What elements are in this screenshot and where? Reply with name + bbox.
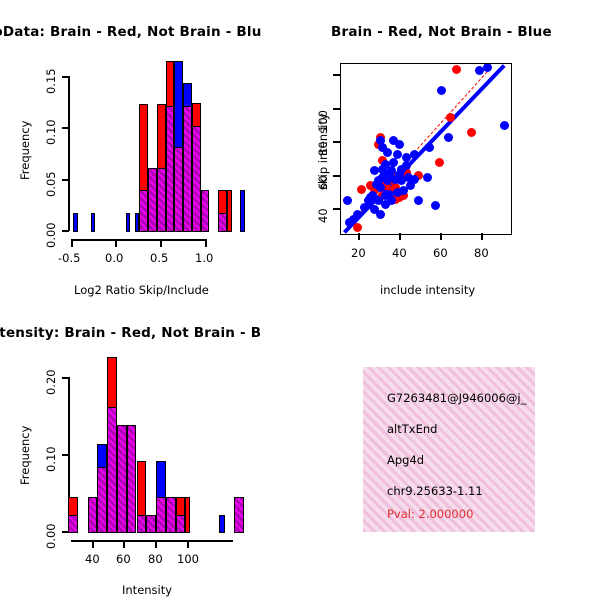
x-tick-label-0-gene: 40	[85, 552, 100, 566]
hist-bar-overlap	[201, 190, 210, 232]
x-axis-label-intensity: Intensity	[122, 583, 172, 597]
y-tick-3-scatter	[333, 108, 340, 110]
y-tick-label-0-scatter: 40	[316, 208, 330, 223]
y-tick-label-2-gene: 0.20	[44, 369, 58, 395]
page-title-scatter: Brain - Red, Not Brain - Blue	[331, 24, 552, 40]
hist-bar-not-brain	[73, 213, 78, 232]
x-tick-label-3-scatter: 80	[474, 246, 489, 260]
x-tick-label-2-gene: 80	[148, 552, 163, 566]
hist-bar-overlap	[137, 515, 147, 533]
x-tick-0-scatter	[358, 233, 360, 240]
y-tick-0-ratio	[62, 230, 69, 232]
scatter-point-not-brain	[389, 158, 398, 167]
y-tick-label-0-ratio: 0.00	[44, 222, 58, 248]
hist-bar-not-brain	[126, 213, 131, 232]
info-line-pval: Pval: 2.000000	[387, 507, 473, 521]
y-axis-label-frequency-gene: Frequency	[18, 426, 32, 485]
x-tick-0-ratio	[71, 239, 73, 247]
x-tick-2-scatter	[440, 233, 442, 240]
y-tick-label-1-ratio: 0.05	[44, 171, 58, 197]
x-axis-label-ratio: Log2 Ratio Skip/Include	[74, 283, 209, 297]
y-tick-label-1-gene: 0.10	[44, 446, 58, 472]
title-clip-region-gene: ne Itensity: Brain - Red, Not Brain - B	[0, 325, 300, 347]
hist-bar-overlap	[183, 106, 192, 232]
x-tick-3-ratio	[205, 239, 207, 247]
y-tick-3-ratio	[62, 76, 69, 78]
scatter-point-brain	[435, 158, 444, 167]
scatter-point-not-brain	[431, 201, 440, 210]
y-tick-label-3-ratio: 0.15	[44, 68, 58, 94]
y-tick-0-scatter	[333, 208, 340, 210]
y-tick-2-gene	[62, 377, 69, 379]
x-tick-label-2-scatter: 60	[433, 246, 448, 260]
x-tick-1-ratio	[115, 239, 117, 247]
panel-intensity-scatter: Brain - Red, Not Brain - Blue skip inten…	[300, 0, 600, 305]
scatter-point-not-brain	[393, 188, 402, 197]
page-title-ratio: RatioData: Brain - Red, Not Brain - Blu	[0, 24, 262, 40]
page-title-gene-intensity: ne Itensity: Brain - Red, Not Brain - B	[0, 325, 261, 341]
x-tick-label-0-scatter: 20	[351, 246, 366, 260]
y-tick-1-gene	[62, 454, 69, 456]
hist-bar-overlap	[156, 497, 166, 533]
scatter-point-brain	[353, 223, 362, 232]
scatter-point-not-brain	[376, 210, 385, 219]
hist-bar-overlap	[192, 126, 201, 232]
hist-bar-overlap	[166, 106, 175, 232]
hist-bar-overlap	[139, 190, 148, 232]
hist-bar-overlap	[148, 168, 157, 232]
x-tick-3-gene	[187, 540, 189, 548]
hist-bar-overlap	[218, 213, 227, 232]
scatter-point-not-brain	[410, 150, 419, 159]
histogram-bars-gene	[69, 355, 249, 533]
scatter-point-not-brain	[500, 121, 509, 130]
hist-bar-overlap	[97, 467, 107, 533]
scatter-point-not-brain	[343, 196, 352, 205]
x-tick-label-1-ratio: 0.0	[105, 251, 123, 265]
y-tick-1-scatter	[333, 175, 340, 177]
scatter-point-brain	[467, 128, 476, 137]
y-tick-label-2-ratio: 0.10	[44, 119, 58, 145]
scatter-point-not-brain	[381, 200, 390, 209]
panel-gene-intensity-histogram: ne Itensity: Brain - Red, Not Brain - B …	[0, 305, 300, 600]
scatter-point-not-brain	[360, 203, 369, 212]
y-tick-label-3-scatter: 100	[316, 110, 330, 132]
x-tick-label-1-gene: 60	[116, 552, 131, 566]
info-line-gene-id: G7263481@J946006@j_	[387, 391, 526, 405]
x-tick-2-gene	[155, 540, 157, 548]
scatter-point-not-brain	[414, 196, 423, 205]
x-tick-3-scatter	[481, 233, 483, 240]
scatter-point-not-brain	[423, 173, 432, 182]
title-clip-region: RatioData: Brain - Red, Not Brain - Blu	[0, 24, 300, 46]
y-tick-1-ratio	[62, 179, 69, 181]
hist-bar-overlap	[107, 407, 117, 533]
hist-bar-overlap	[146, 515, 156, 533]
info-line-locus: chr9.25633-1.11	[387, 484, 483, 498]
scatter-point-not-brain	[372, 180, 381, 189]
scatter-point-not-brain	[437, 86, 446, 95]
x-tick-label-1-scatter: 40	[392, 246, 407, 260]
hist-bar-overlap	[127, 425, 137, 533]
x-axis-line-gene	[71, 540, 233, 542]
scatter-point-not-brain	[393, 150, 402, 159]
scatter-point-not-brain	[444, 133, 453, 142]
y-tick-label-1-scatter: 60	[316, 175, 330, 190]
hist-bar-not-brain	[91, 213, 96, 232]
scatter-plot-area	[340, 63, 512, 235]
scatter-point-not-brain	[366, 193, 375, 202]
hist-bar-overlap	[157, 168, 166, 232]
scatter-point-brain	[452, 65, 461, 74]
info-line-gene-symbol: Apg4d	[387, 453, 424, 467]
y-tick-label-0-gene: 0.00	[44, 523, 58, 549]
histogram-bars-ratio	[69, 60, 249, 232]
x-tick-0-gene	[92, 540, 94, 548]
x-tick-label-3-gene: 100	[177, 552, 199, 566]
y-tick-label-2-scatter: 80	[316, 141, 330, 156]
scatter-point-not-brain	[406, 181, 415, 190]
hist-bar-overlap	[117, 425, 127, 533]
gene-info-panel: G7263481@J946006@j_ altTxEnd Apg4d chr9.…	[363, 367, 535, 532]
hist-bar-overlap	[234, 497, 244, 533]
y-tick-2-scatter	[333, 141, 340, 143]
y-tick-4-scatter	[333, 74, 340, 76]
x-tick-label-2-ratio: 0.5	[150, 251, 168, 265]
scatter-point-not-brain	[425, 143, 434, 152]
scatter-points-layer	[341, 64, 511, 234]
x-tick-label-3-ratio: 1.0	[195, 251, 213, 265]
scatter-point-not-brain	[370, 166, 379, 175]
x-axis-line-ratio	[71, 239, 207, 241]
hist-bar-overlap	[174, 147, 183, 233]
scatter-point-not-brain	[483, 63, 492, 72]
x-tick-label-0-ratio: -0.5	[58, 251, 80, 265]
scatter-point-not-brain	[402, 161, 411, 170]
hist-bar-brain	[227, 190, 232, 232]
hist-bar-overlap	[88, 497, 98, 533]
y-tick-2-ratio	[62, 127, 69, 129]
x-tick-1-scatter	[399, 233, 401, 240]
hist-bar-overlap	[166, 497, 176, 533]
hist-bar-overlap	[68, 515, 78, 533]
panel-ratio-histogram: RatioData: Brain - Red, Not Brain - Blu …	[0, 0, 300, 305]
scatter-point-brain	[446, 113, 455, 122]
y-axis-label-frequency-ratio: Frequency	[18, 121, 32, 180]
scatter-point-not-brain	[381, 160, 390, 169]
scatter-point-not-brain	[383, 148, 392, 157]
hist-bar-not-brain	[219, 515, 224, 533]
x-axis-label-include-intensity: include intensity	[380, 283, 475, 297]
hist-bar-not-brain	[240, 190, 245, 232]
x-tick-2-ratio	[160, 239, 162, 247]
info-line-event-type: altTxEnd	[387, 422, 437, 436]
x-tick-1-gene	[123, 540, 125, 548]
hist-bar-brain	[185, 497, 190, 533]
hist-bar-overlap	[176, 515, 186, 533]
